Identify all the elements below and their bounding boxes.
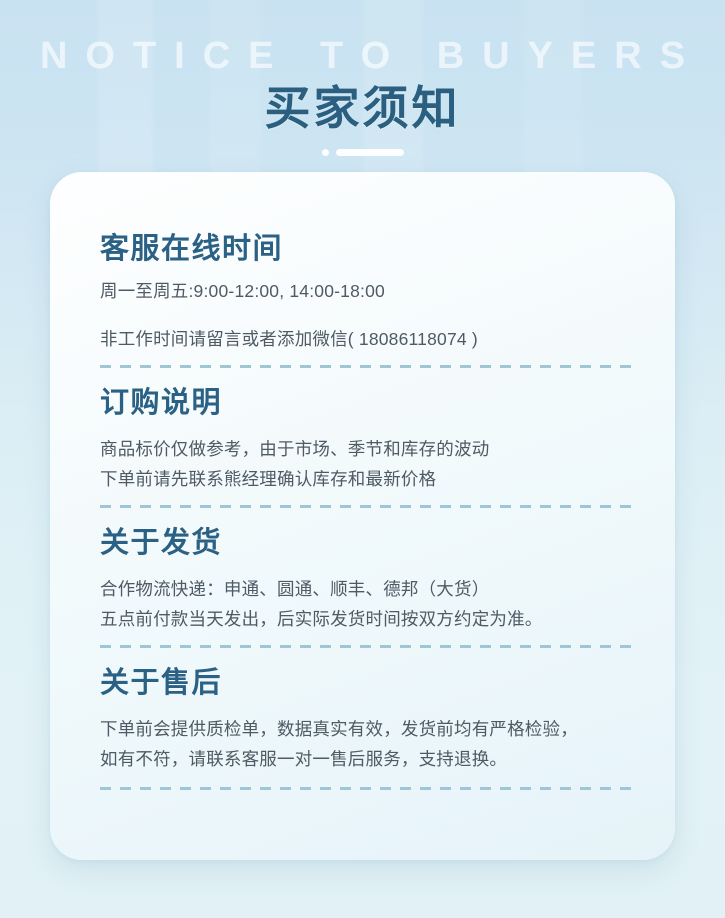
body-line: 五点前付款当天发出，后实际发货时间按双方约定为准。 [100, 604, 639, 634]
body-line: 如有不符，请联系客服一对一售后服务，支持退换。 [100, 744, 639, 774]
section-shipping: 关于发货 合作物流快递：申通、圆通、顺丰、德邦（大货） 五点前付款当天发出，后实… [100, 524, 639, 648]
body-line: 下单前请先联系熊经理确认库存和最新价格 [100, 464, 639, 494]
body-line: 周一至周五:9:00-12:00, 14:00-18:00 [100, 276, 639, 306]
section-body: 周一至周五:9:00-12:00, 14:00-18:00 非工作时间请留言或者… [100, 276, 639, 354]
body-line: 下单前会提供质检单，数据真实有效，发货前均有严格检验， [100, 714, 639, 744]
body-line: 非工作时间请留言或者添加微信( 18086118074 ) [100, 324, 639, 354]
page-header: NOTICE TO BUYERS 买家须知 [0, 0, 725, 172]
section-heading: 关于售后 [100, 664, 639, 702]
body-line: 合作物流快递：申通、圆通、顺丰、德邦（大货） [100, 574, 639, 604]
notice-card: 客服在线时间 周一至周五:9:00-12:00, 14:00-18:00 非工作… [50, 172, 675, 860]
section-customer-service-hours: 客服在线时间 周一至周五:9:00-12:00, 14:00-18:00 非工作… [100, 230, 639, 368]
section-body: 下单前会提供质检单，数据真实有效，发货前均有严格检验， 如有不符，请联系客服一对… [100, 714, 639, 774]
section-body: 合作物流快递：申通、圆通、顺丰、德邦（大货） 五点前付款当天发出，后实际发货时间… [100, 574, 639, 634]
page-root: NOTICE TO BUYERS 买家须知 客服在线时间 周一至周五:9:00-… [0, 0, 725, 918]
section-divider [100, 505, 639, 508]
section-divider [100, 645, 639, 648]
page-title: 买家须知 [0, 80, 725, 136]
section-heading: 关于发货 [100, 524, 639, 562]
decoration-dot-icon [322, 149, 329, 156]
section-heading: 客服在线时间 [100, 230, 639, 268]
section-ordering-instructions: 订购说明 商品标价仅做参考，由于市场、季节和库存的波动 下单前请先联系熊经理确认… [100, 384, 639, 508]
decoration-bar-icon [336, 149, 404, 156]
section-after-sales: 关于售后 下单前会提供质检单，数据真实有效，发货前均有严格检验， 如有不符，请联… [100, 664, 639, 790]
section-body: 商品标价仅做参考，由于市场、季节和库存的波动 下单前请先联系熊经理确认库存和最新… [100, 434, 639, 494]
watermark-text: NOTICE TO BUYERS [0, 34, 725, 78]
body-line: 商品标价仅做参考，由于市场、季节和库存的波动 [100, 434, 639, 464]
notice-card-content: 客服在线时间 周一至周五:9:00-12:00, 14:00-18:00 非工作… [100, 230, 639, 806]
title-decoration [0, 149, 725, 156]
section-heading: 订购说明 [100, 384, 639, 422]
section-divider [100, 787, 639, 790]
section-divider [100, 365, 639, 368]
